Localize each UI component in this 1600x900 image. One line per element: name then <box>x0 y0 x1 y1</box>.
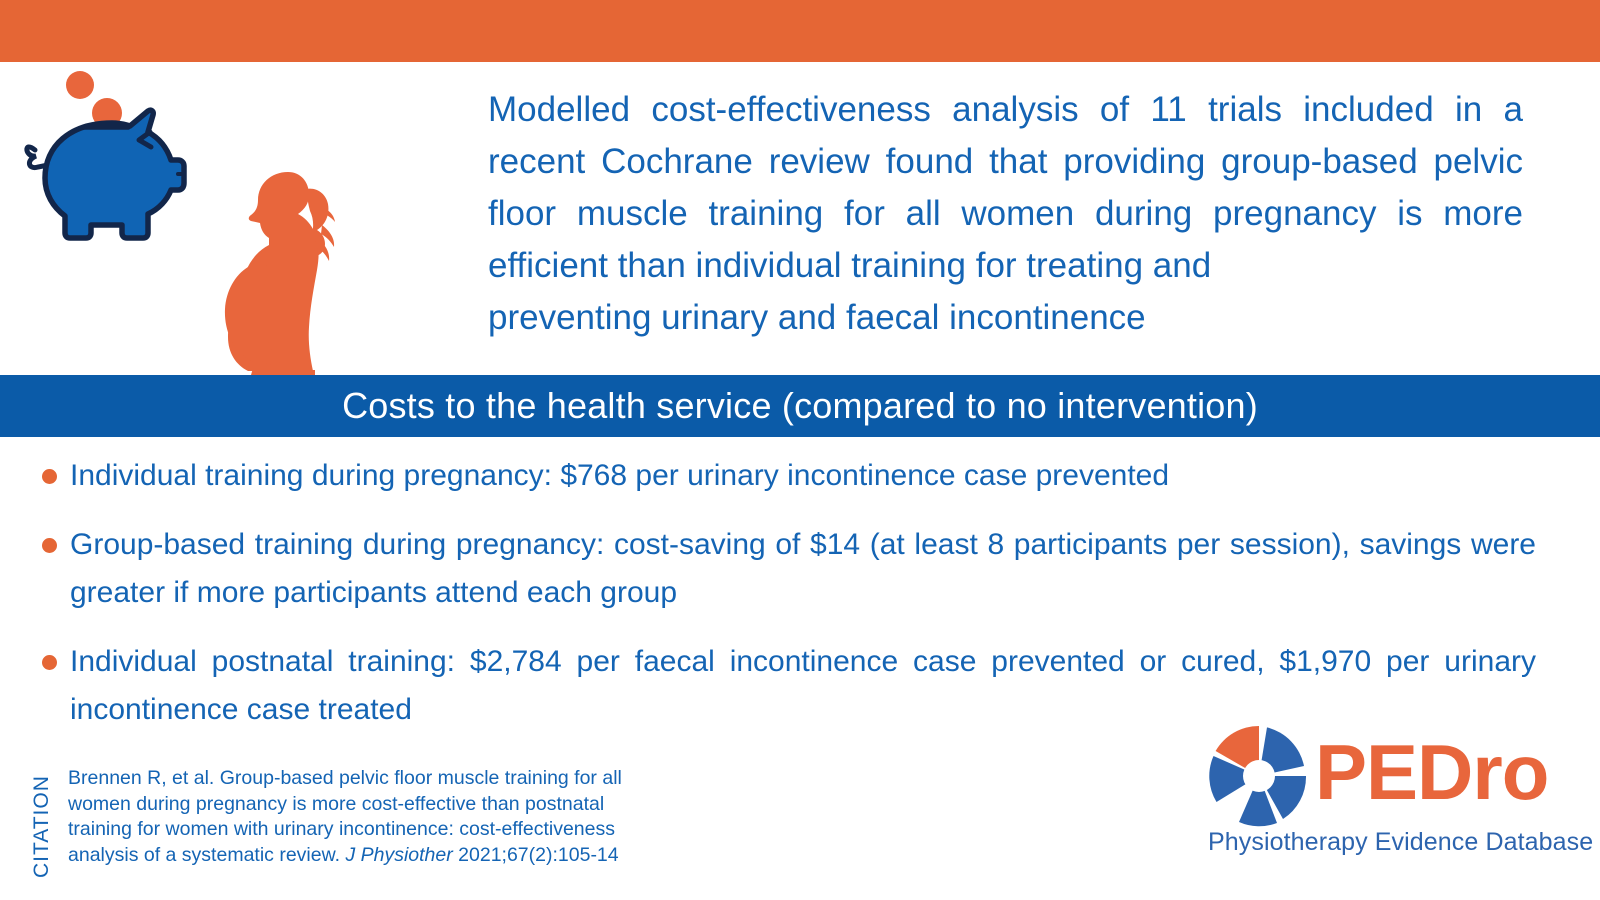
pedro-logo: PEDro Physiotherapy Evidence Database <box>1205 712 1575 862</box>
hero-section: Modelled cost-effectiveness analysis of … <box>0 62 1600 375</box>
piggy-bank-icon <box>12 70 212 250</box>
pedro-tagline: Physiotherapy Evidence Database <box>1208 828 1593 857</box>
list-item: Individual training during pregnancy: $7… <box>36 452 1536 500</box>
hero-headline-main: Modelled cost-effectiveness analysis of … <box>488 90 1523 285</box>
citation-text-after-journal: 2021;67(2):105-14 <box>453 844 619 866</box>
pedro-wheel-icon <box>1205 722 1313 830</box>
top-orange-band <box>0 0 1600 62</box>
list-item-text: Group-based training during pregnancy: c… <box>70 528 1536 609</box>
hero-headline: Modelled cost-effectiveness analysis of … <box>488 84 1523 344</box>
citation-text: Brennen R, et al. Group-based pelvic flo… <box>68 766 628 868</box>
pregnant-woman-icon <box>218 167 368 375</box>
section-banner-title: Costs to the health service (compared to… <box>342 385 1258 427</box>
list-item-text: Individual training during pregnancy: $7… <box>70 459 1169 492</box>
bullet-dot-icon <box>42 655 57 670</box>
citation-label: CITATION <box>30 758 56 878</box>
citation-block: CITATION Brennen R, et al. Group-based p… <box>30 752 670 880</box>
citation-journal-name: J Physiother <box>345 844 452 866</box>
hero-headline-lastline: preventing urinary and faecal incontinen… <box>488 298 1146 337</box>
bullet-dot-icon <box>42 538 57 553</box>
findings-list: Individual training during pregnancy: $7… <box>36 452 1536 734</box>
pedro-wordmark: PEDro <box>1315 726 1548 818</box>
bullet-dot-icon <box>42 469 57 484</box>
section-banner: Costs to the health service (compared to… <box>0 375 1600 437</box>
list-item: Group-based training during pregnancy: c… <box>36 521 1536 617</box>
